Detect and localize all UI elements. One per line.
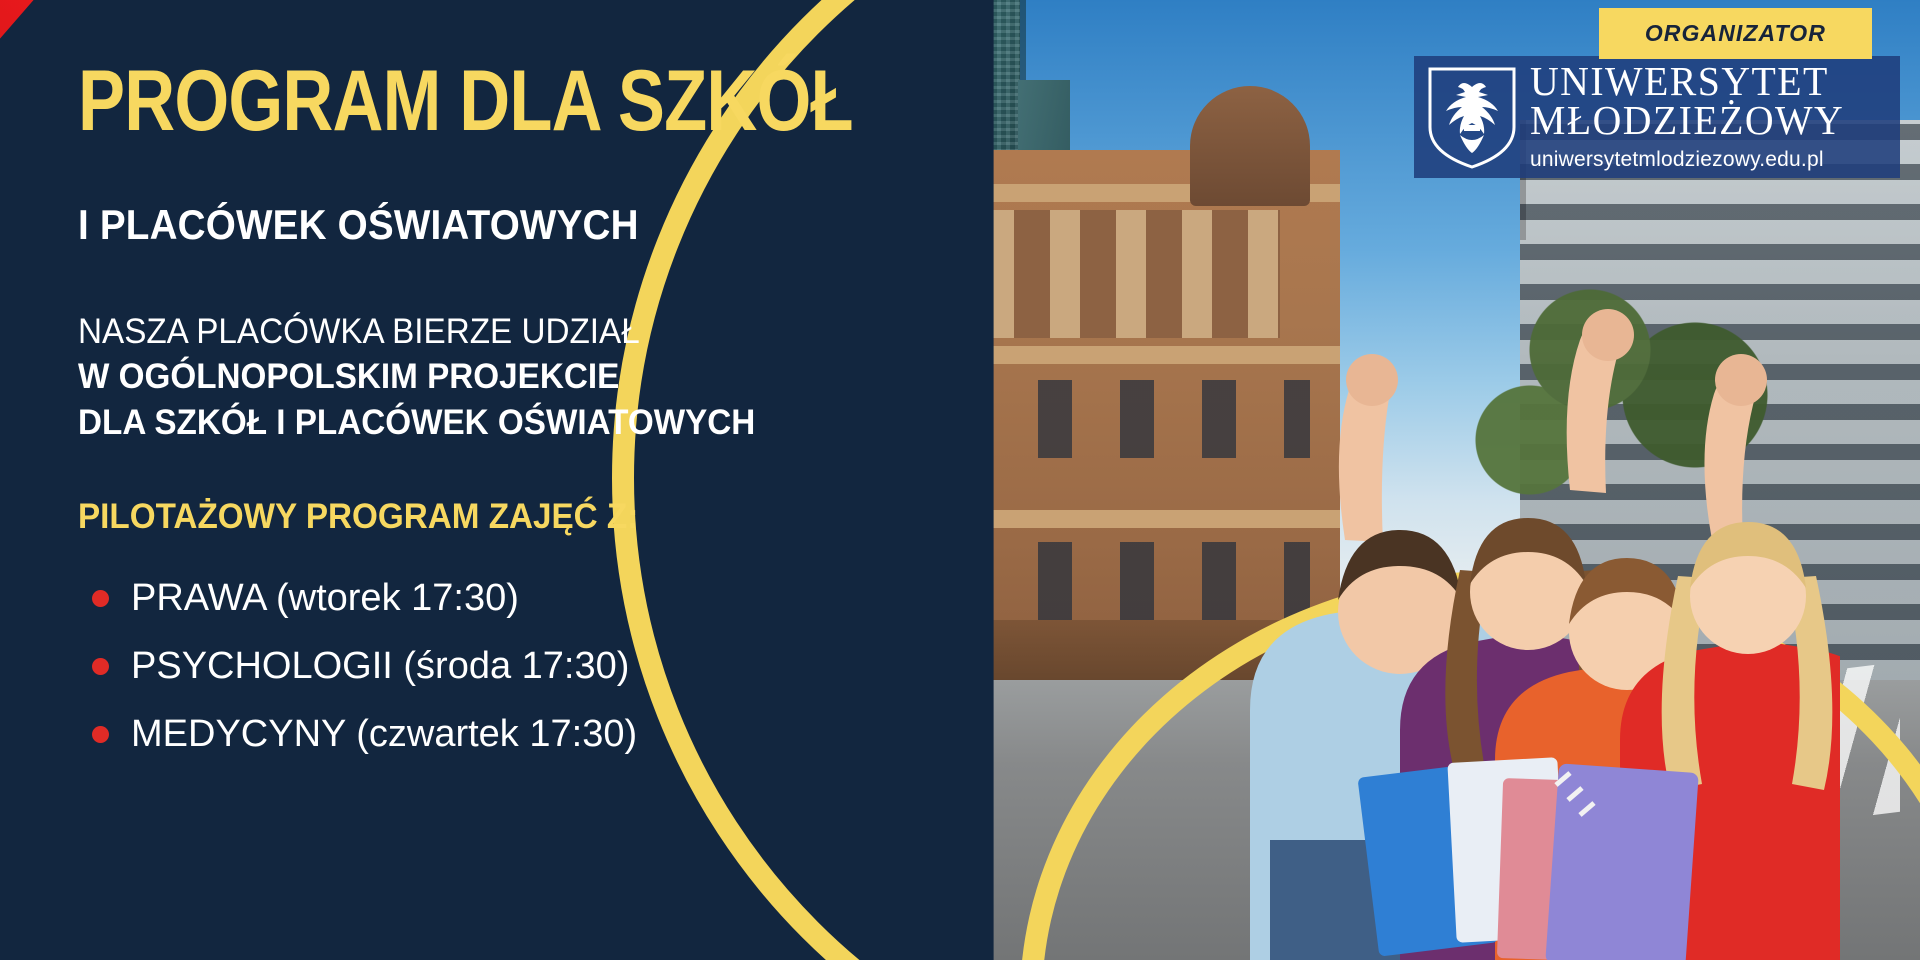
page-subtitle: I PLACÓWEK OŚWIATOWYCH — [78, 203, 816, 247]
text-content: PROGRAM DLA SZKÓŁ I PLACÓWEK OŚWIATOWYCH… — [0, 0, 880, 960]
notebooks — [1357, 757, 1698, 960]
bullet-dot-icon — [92, 658, 109, 675]
description-line-1: NASZA PLACÓWKA BIERZE UDZIAŁ — [78, 309, 840, 355]
list-item: MEDYCYNY (czwartek 17:30) — [78, 715, 880, 753]
promo-banner: ORGANIZATOR UNIWERSYTET MŁODZIEŻOWY uniw… — [0, 0, 1920, 960]
bullet-dot-icon — [92, 726, 109, 743]
logo-name-line-1: UNIWERSYTET — [1530, 62, 1844, 101]
description-line-2: W OGÓLNOPOLSKIM PROJEKCIE — [78, 354, 840, 400]
logo-wordmark: UNIWERSYTET MŁODZIEŻOWY uniwersytetmlodz… — [1530, 62, 1854, 173]
page-title: PROGRAM DLA SZKÓŁ — [78, 60, 736, 143]
logo-website-url[interactable]: uniwersytetmlodziezowy.edu.pl — [1530, 148, 1854, 172]
description-paragraph: NASZA PLACÓWKA BIERZE UDZIAŁ W OGÓLNOPOL… — [78, 309, 840, 446]
building-dome — [1190, 86, 1310, 206]
description-line-3: DLA SZKÓŁ I PLACÓWEK OŚWIATOWYCH — [78, 400, 840, 446]
students-group-photo — [1100, 240, 1840, 960]
bullet-dot-icon — [92, 590, 109, 607]
eagle-crest-icon — [1424, 63, 1520, 171]
organizator-badge: ORGANIZATOR — [1599, 8, 1872, 59]
list-item: PSYCHOLOGII (środa 17:30) — [78, 647, 880, 685]
list-item: PRAWA (wtorek 17:30) — [78, 579, 880, 617]
list-item-label: PSYCHOLOGII (środa 17:30) — [131, 647, 629, 685]
list-item-label: PRAWA (wtorek 17:30) — [131, 579, 519, 617]
tower-roof — [895, 0, 965, 12]
subject-list: PRAWA (wtorek 17:30) PSYCHOLOGII (środa … — [78, 579, 880, 753]
logo-name-line-2: MŁODZIEŻOWY — [1530, 101, 1844, 140]
university-logo[interactable]: UNIWERSYTET MŁODZIEŻOWY uniwersytetmlodz… — [1414, 56, 1900, 178]
list-item-label: MEDYCYNY (czwartek 17:30) — [131, 715, 637, 753]
program-kicker: PILOTAŻOWY PROGRAM ZAJĘĆ Z: — [78, 497, 840, 537]
